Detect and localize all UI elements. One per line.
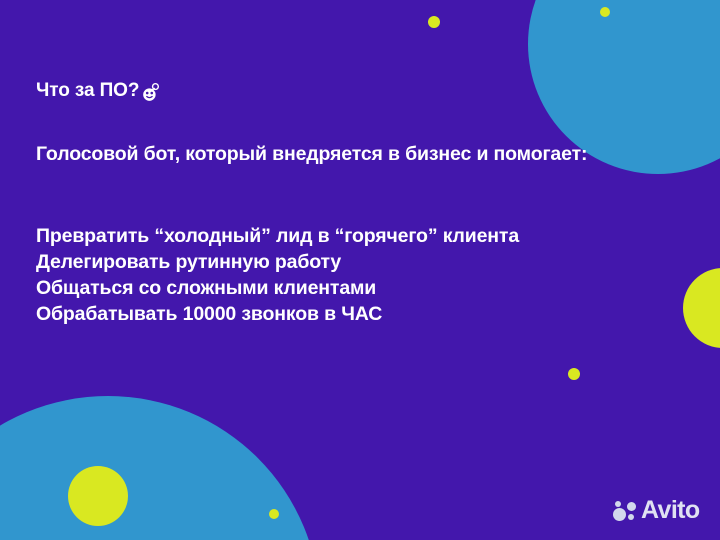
avito-dot-small-top-left: [615, 501, 621, 507]
slide-content: Что за ПО? Голосовой бот, который внедря…: [36, 80, 684, 103]
yellow-circle-right-edge: [683, 268, 720, 348]
avito-dot-medium-top-right: [627, 502, 636, 511]
blue-circle-bottom-left: [0, 396, 320, 540]
yellow-circle-bottom-left: [68, 466, 128, 526]
yellow-dot-top-right: [600, 7, 610, 17]
yellow-dot-mid-right: [568, 368, 580, 380]
lead-paragraph: Голосовой бот, который внедряется в бизн…: [36, 142, 587, 168]
avito-dots-logo-icon: [612, 499, 638, 523]
list-item: Превратить “холодный” лид в “горячего” к…: [36, 223, 519, 249]
benefit-list: Превратить “холодный” лид в “горячего” к…: [36, 223, 519, 327]
list-item: Делегировать рутинную работу: [36, 249, 519, 275]
avito-wordmark: Avito: [641, 498, 700, 523]
page-title: Что за ПО?: [36, 80, 684, 103]
yellow-dot-bottom-left: [269, 509, 279, 519]
avito-dot-small-bottom: [628, 514, 634, 520]
yellow-dot-top-center: [428, 16, 440, 28]
list-item: Общаться со сложными клиентами: [36, 275, 519, 301]
promo-slide: Что за ПО? Голосовой бот, который внедря…: [0, 0, 720, 540]
headline-text: Что за ПО?: [36, 80, 139, 103]
avito-dot-large: [613, 508, 626, 521]
robot-face-emoji: [141, 82, 162, 103]
list-item: Обрабатывать 10000 звонков в ЧАС: [36, 301, 519, 327]
avito-watermark: Avito: [612, 498, 700, 523]
